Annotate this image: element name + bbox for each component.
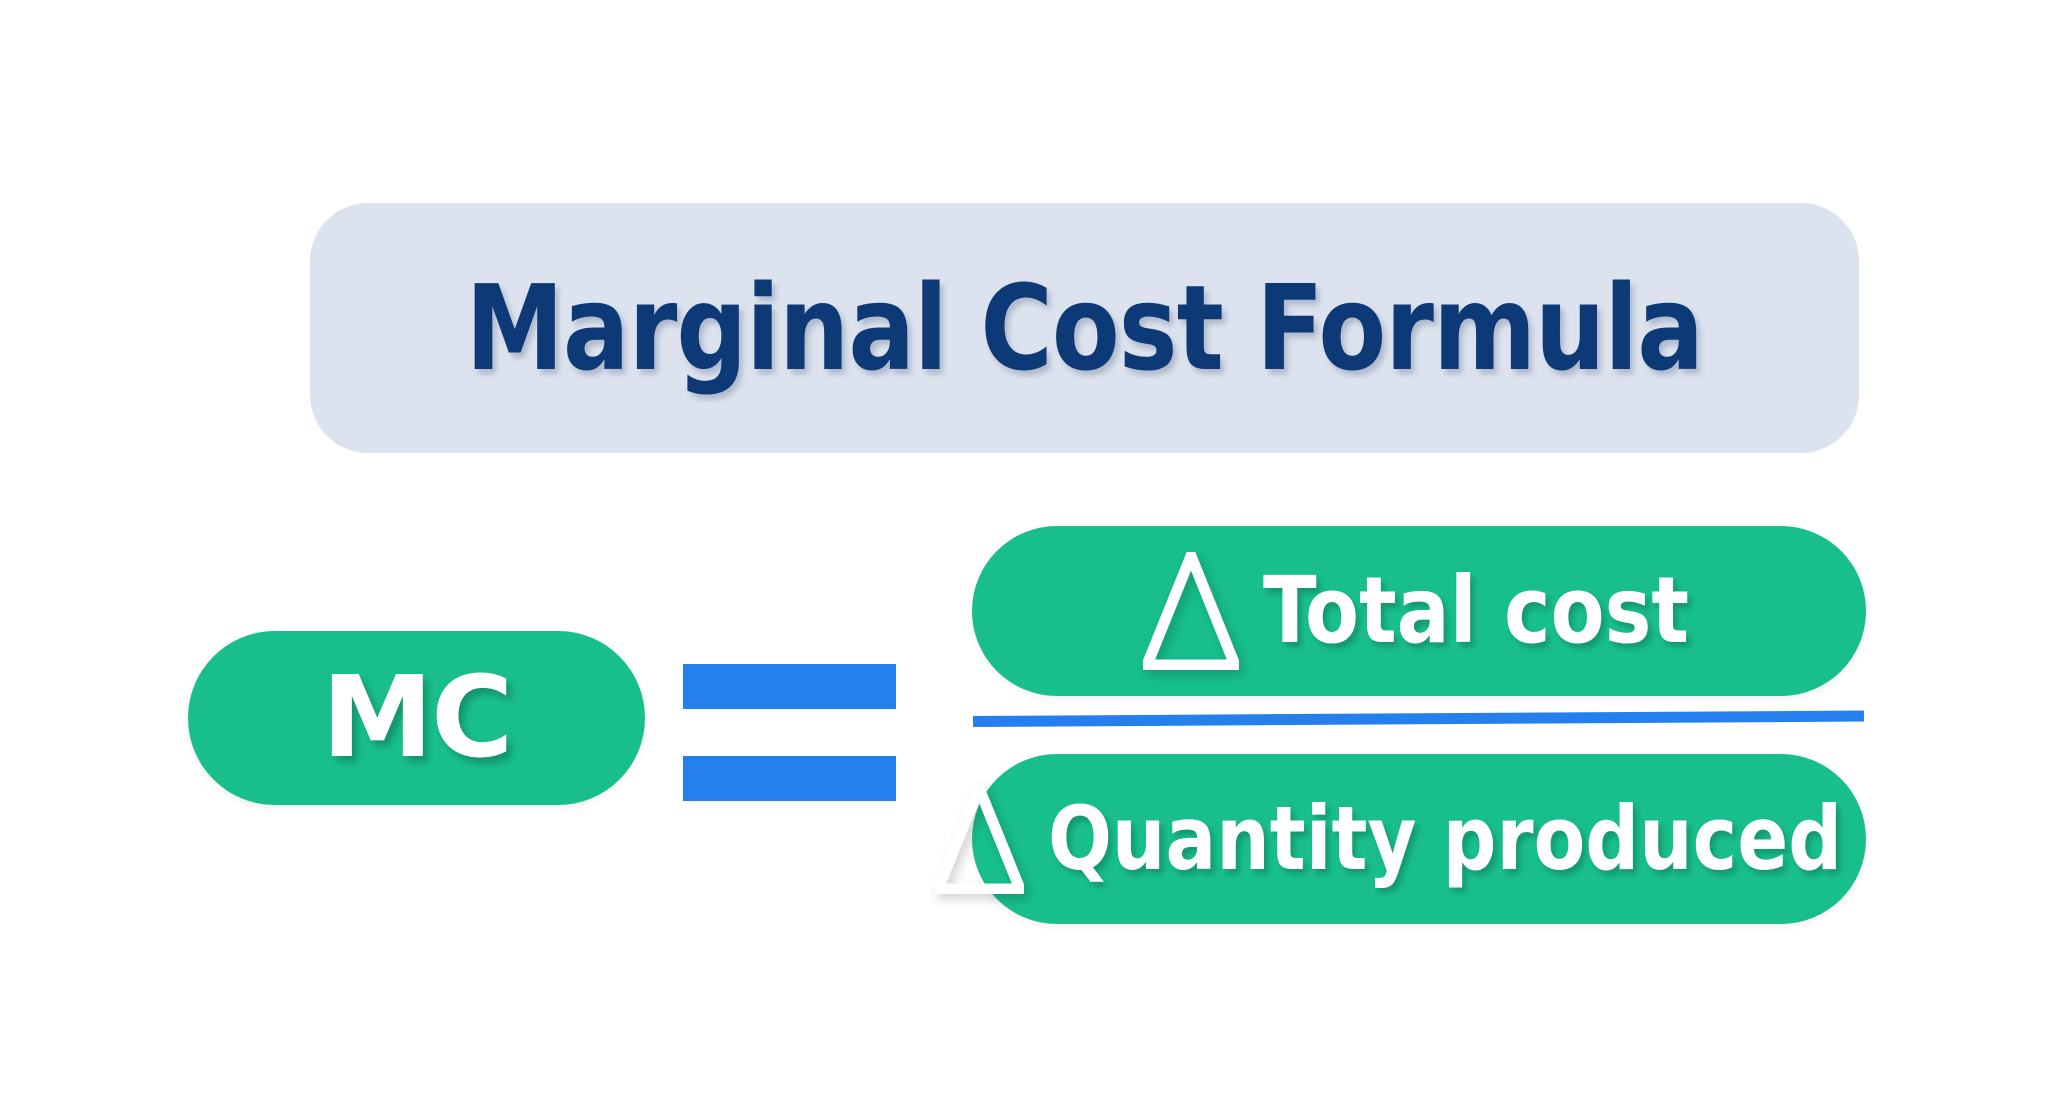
page-title: Marginal Cost Formula — [466, 269, 1703, 387]
title-banner: Marginal Cost Formula — [310, 203, 1859, 453]
equals-bar-bottom — [683, 756, 896, 801]
denominator-label: Quantity produced — [1048, 795, 1842, 883]
numerator-content: Total cost — [1143, 552, 1711, 670]
denominator-pill: Quantity produced — [972, 754, 1866, 924]
formula-canvas: Marginal Cost Formula MC Total cost Qu — [0, 0, 2061, 1097]
fraction-group: Total cost Quantity produced — [972, 526, 1866, 926]
equals-sign — [683, 664, 896, 801]
delta-triangle-icon — [1143, 552, 1239, 670]
numerator-label: Total cost — [1263, 565, 1689, 657]
marginal-cost-pill: MC — [188, 631, 645, 805]
marginal-cost-label: MC — [322, 662, 512, 774]
denominator-content: Quantity produced — [934, 784, 1884, 894]
delta-triangle-icon — [934, 784, 1024, 894]
fraction-divider — [973, 711, 1864, 727]
numerator-pill: Total cost — [972, 526, 1866, 696]
equals-bar-top — [683, 664, 896, 709]
